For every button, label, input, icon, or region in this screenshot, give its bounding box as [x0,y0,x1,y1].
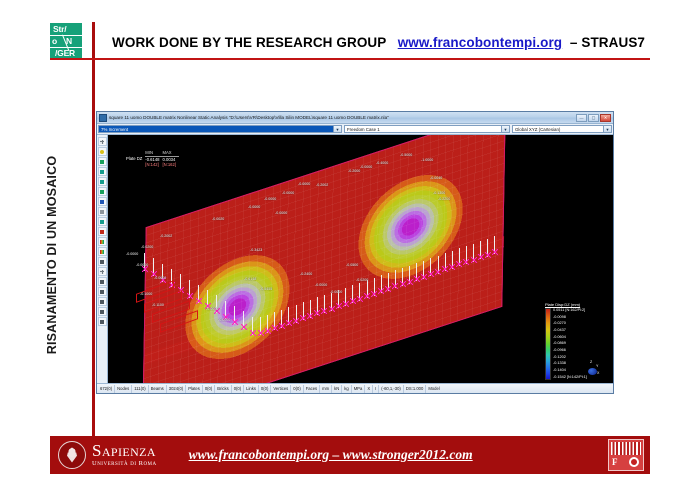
status-bar-cell: mm [320,385,332,393]
contour-value-label: -0.0000 [154,276,166,280]
grid-tool-button[interactable] [98,267,107,276]
axis-system-value: Global XYZ (Cartesian) [513,126,603,133]
contour-value-label: -0.5000 [400,153,412,157]
support-post [430,258,431,276]
sapienza-seal-icon [58,441,86,469]
link-tool-button[interactable] [98,187,107,196]
support-post [381,275,382,293]
brick-tool-button[interactable] [98,177,107,186]
contour-value-label: -0.6148 [244,277,256,281]
title-prefix: WORK DONE BY THE RESEARCH GROUP [112,35,386,50]
application-icon [99,114,107,122]
freedom-case-value: Freedom Case 1 [345,126,501,133]
legend-value: -0.1542 [N:142/Pl:1] [553,375,587,380]
logo-text-o: o [52,35,57,47]
legend-value: -0.0966 [553,348,587,353]
legend-value: -0.0869 [553,341,587,346]
axis-label-y: Y [596,364,598,368]
support-post [267,315,268,333]
contour-value-label: -0.0000 [136,263,148,267]
axis-origin-ball [588,368,597,375]
support-post [345,288,346,306]
support-post [487,239,488,257]
support-post [243,311,244,329]
contour-value-label: -0.0500 [346,263,358,267]
node-tool-button[interactable] [98,147,107,156]
legend-value: -0.0270 [553,321,587,326]
support-post [281,310,282,328]
support-post [388,273,389,291]
page-title: WORK DONE BY THE RESEARCH GROUP www.fran… [112,35,645,50]
contour-value-label: -0.0000 [218,318,230,322]
title-suffix: – STRAUS7 [570,35,645,50]
increment-select[interactable]: 7% Increment ▼ [98,125,342,133]
legend-value: -0.1202 [553,355,587,360]
support-post [189,280,190,298]
support-post [466,246,467,264]
status-bar-cell: 111(0) [132,385,148,393]
freedom-tool-button[interactable] [98,297,107,306]
axis-triad-icon: Z Y X [585,360,601,378]
support-post [423,261,424,279]
chevron-down-icon[interactable]: ▼ [501,126,509,132]
francobontempi-link[interactable]: www.francobontempi.org [398,35,562,50]
support-post [494,236,495,254]
contour-value-label: -0.5455 [260,287,272,291]
left-toolbar [97,135,108,384]
support-post [153,258,154,276]
status-bar-cell: Links [244,385,259,393]
deform-tool-button[interactable] [98,257,107,266]
status-bar-cell: Model [426,385,441,393]
slide-footer: Sapienza Università di Roma www.francobo… [50,436,650,474]
sapienza-name: Sapienza [92,442,157,459]
vertex-tool-button[interactable] [98,197,107,206]
status-bar-cell: X [365,385,373,393]
close-button[interactable]: ✕ [600,114,611,122]
sapienza-subtitle: Università di Roma [92,461,157,468]
contour-value-label: -0.0040 [430,176,442,180]
legend-value: -0.1404 [553,368,587,373]
beam-tool-button[interactable] [98,157,107,166]
support-post [198,285,199,303]
slide-canvas: Str/ o N /GER WORK DONE BY THE RESEARCH … [0,0,700,494]
support-post [452,251,453,269]
contour-value-label: -0.0200 [141,245,153,249]
contour-value-label: -0.2400 [300,272,312,276]
chevron-down-icon[interactable]: ▼ [333,126,341,132]
logo-row-1: Str/ [50,23,82,35]
contour-value-label: -0.0000 [315,283,327,287]
contour-value-label: -0.0200 [356,278,368,282]
logo-text-str: Str/ [53,23,66,35]
contour-value-label: -0.2002 [316,183,328,187]
contour-value-label: -0.0000 [298,182,310,186]
increment-select-value: 7% Increment [99,126,333,133]
status-bar-cell: kN [332,385,342,393]
results-tool-button[interactable] [98,237,107,246]
red-vertical-rule [92,22,95,440]
contour-value-label: -0.0000 [264,197,276,201]
support-post [310,300,311,318]
status-bar-cell: DS:1.000 [404,385,426,393]
legend-color-bar [545,308,551,380]
support-post [144,253,145,271]
logo-divider-top [50,35,82,36]
support-post [374,278,375,296]
axis-system-select[interactable]: Global XYZ (Cartesian) ▼ [512,125,612,133]
contour-tool-button[interactable] [98,217,107,226]
contour-value-label: -0.0000 [126,252,138,256]
support-post [252,317,253,335]
support-post [352,285,353,303]
contour-value-label: -0.0000 [330,290,342,294]
contour-value-label: -0.0000 [360,165,372,169]
stronger-logo: Str/ o N /GER [50,23,82,59]
sapienza-logo-block: Sapienza Università di Roma [58,441,157,469]
legend-value: -0.1338 [553,361,587,366]
axis-label-x: X [597,371,599,375]
footer-url-link[interactable]: www.francobontempi.org – www.stronger201… [189,447,608,463]
support-post [296,305,297,323]
support-post [459,248,460,266]
support-post [288,307,289,325]
red-horizontal-rule [50,58,650,60]
axis-label-z: Z [590,360,592,364]
status-bar-cell: Vertices [271,385,291,393]
support-post [234,306,235,324]
status-bar-cell: Bricks [215,385,231,393]
restraint-tool-button[interactable] [98,227,107,236]
vertical-section-title: RISANAMENTO DI UN MOSAICO [45,130,59,380]
contour-value-label: -0.1100 [152,303,164,307]
result-case-toolbar: 7% Increment ▼ Freedom Case 1 ▼ Global X… [97,124,613,135]
support-post [416,263,417,281]
group-tool-button[interactable] [98,287,107,296]
face-tool-button[interactable] [98,207,107,216]
legend-value-list: 0.0511 [N:162/Pl:2]-0.0098-0.0270-0.0437… [553,308,587,380]
status-bar-cell: Beams [149,385,167,393]
status-bar-cell: kg [342,385,351,393]
support-post [317,297,318,315]
support-post [438,256,439,274]
support-post [225,301,226,319]
support-post [367,280,368,298]
support-post [274,312,275,330]
support-post [331,293,332,311]
support-post [260,317,261,335]
contour-value-label: -0.3423 [250,248,262,252]
contour-value-label: -0.0000 [248,205,260,209]
contour-value-label: -0.2002 [160,234,172,238]
support-post [395,270,396,288]
contour-value-label: -1.0000 [421,158,433,162]
contour-value-label: -0.1300 [433,191,445,195]
freedom-case-select[interactable]: Freedom Case 1 ▼ [344,125,510,133]
window-title-text: square 11 uomo DOUBLE matrix Nonlinear S… [109,115,576,121]
minimize-button[interactable]: — [576,114,587,122]
finite-element-scene: -0.5000-0.4000-1.0000-0.2000-0.0000-0.00… [108,135,613,384]
contour-value-label: -0.0000 [206,307,218,311]
contour-value-label: -0.4000 [376,161,388,165]
window-titlebar[interactable]: square 11 uomo DOUBLE matrix Nonlinear S… [97,112,613,124]
status-bar-cell: MPa [352,385,366,393]
select-tool-button[interactable] [98,137,107,146]
straus7-application-window: square 11 uomo DOUBLE matrix Nonlinear S… [96,111,614,394]
legend-value: 0.0511 [N:162/Pl:2] [553,308,587,313]
support-post [402,268,403,286]
chevron-down-icon[interactable]: ▼ [603,126,611,132]
status-bar-cell: 0(0) [232,385,244,393]
legend-title: Plate Disp:DZ (mm) [545,302,609,307]
status-bar-cell: Faces [304,385,320,393]
contour-value-label: -0.0020 [212,217,224,221]
status-bar-cell: 3024(0) [167,385,186,393]
load-tool-button[interactable] [98,307,107,316]
legend-value: -0.0604 [553,335,587,340]
plate-tool-button[interactable] [98,167,107,176]
contour-value-label: -0.2200 [438,197,450,201]
contour-value-label: -0.1000 [140,292,152,296]
status-bar-cell: Nodes [115,385,132,393]
mesh-tool-button[interactable] [98,277,107,286]
application-body: MIN MAX Plate DZ -0.6148 0.0034 [N:142] … [97,135,613,384]
status-bar-cell: 0(0) [259,385,271,393]
status-bar-cell: Plates [186,385,203,393]
support-post [480,241,481,259]
status-bar-cell: 0(0) [291,385,303,393]
status-bar: 672(0)Nodes111(0)Beams3024(0)Plates0(0)B… [97,383,613,393]
fbo-logo-icon: F [608,439,644,471]
support-post [409,266,410,284]
support-post [207,290,208,308]
legend-value: -0.0098 [553,315,587,320]
legend-tool-button[interactable] [98,247,107,256]
support-post [445,253,446,271]
maximize-button[interactable]: ▢ [588,114,599,122]
support-post [359,283,360,301]
view-tool-button[interactable] [98,317,107,326]
contour-value-label: -0.2000 [348,169,360,173]
model-viewport-3d[interactable]: MIN MAX Plate DZ -0.6148 0.0034 [N:142] … [108,135,613,384]
status-bar-cell: 0(0) [203,385,215,393]
support-post [473,244,474,262]
support-post [303,302,304,320]
window-controls: — ▢ ✕ [576,114,611,122]
contour-value-label: -0.0000 [282,191,294,195]
status-bar-cell: (-60,1,-30) [379,385,404,393]
support-post [324,295,325,313]
status-bar-cell: 672(0) [98,385,115,393]
legend-value: -0.0437 [553,328,587,333]
contour-value-label: -0.0000 [275,211,287,215]
